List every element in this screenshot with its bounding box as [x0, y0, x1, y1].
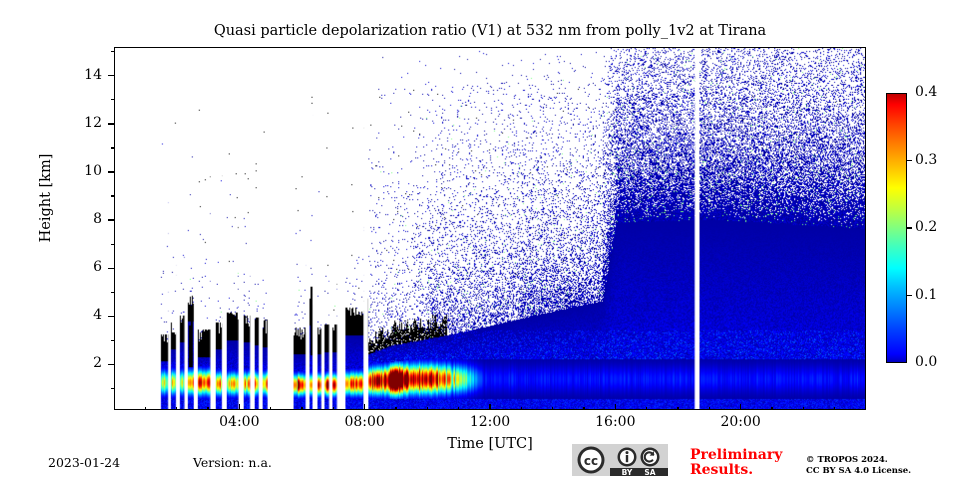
x-tick-minor [301, 407, 302, 411]
colorbar-tick-label: 0.2 [915, 219, 937, 236]
x-tick-minor [395, 407, 396, 411]
colorbar-tick [907, 295, 912, 296]
x-tick-label: 16:00 [575, 414, 655, 431]
chart-title: Quasi particle depolarization ratio (V1)… [114, 22, 866, 40]
preliminary-line-2: Results. [690, 463, 800, 478]
colorbar-tick [907, 160, 912, 161]
y-tick-minor [111, 340, 115, 341]
copyright-line-2: CC BY SA 4.0 License. [806, 466, 956, 477]
colorbar-tick-label: 0.1 [915, 287, 937, 304]
x-tick-minor [176, 407, 177, 411]
x-tick-minor [552, 407, 553, 411]
y-tick-minor [111, 99, 115, 100]
footer-version: Version: n.a. [193, 455, 272, 470]
y-axis-label: Height [km] [38, 138, 54, 258]
y-tick-minor [111, 292, 115, 293]
x-tick-minor [521, 407, 522, 411]
x-tick-minor [709, 407, 710, 411]
footer-date: 2023-01-24 [48, 455, 120, 470]
x-tick-label: 04:00 [199, 414, 279, 431]
x-tick [489, 404, 490, 410]
x-tick [615, 404, 616, 410]
colorbar [886, 93, 907, 363]
x-tick-minor [677, 407, 678, 411]
y-tick [108, 171, 114, 172]
x-tick-minor [427, 407, 428, 411]
preliminary-results-note: Preliminary Results. [690, 448, 800, 478]
y-tick-label: 10 [72, 163, 102, 180]
y-tick-minor [111, 51, 115, 52]
y-tick-label: 12 [72, 115, 102, 132]
x-tick-minor [771, 407, 772, 411]
copyright-line-1: © TROPOS 2024. [806, 455, 956, 466]
y-tick-minor [111, 195, 115, 196]
copyright-note: © TROPOS 2024. CC BY SA 4.0 License. [806, 455, 956, 477]
y-tick [108, 316, 114, 317]
x-tick-minor [803, 407, 804, 411]
x-tick [740, 404, 741, 410]
x-tick-minor [333, 407, 334, 411]
x-tick-minor [207, 407, 208, 411]
y-tick-minor [111, 244, 115, 245]
y-tick-label: 2 [72, 355, 102, 372]
colorbar-tick-label: 0.0 [915, 354, 937, 371]
y-tick-minor [111, 388, 115, 389]
heatmap-canvas [115, 48, 865, 409]
colorbar-tick-label: 0.3 [915, 152, 937, 169]
chart-figure: Quasi particle depolarization ratio (V1)… [0, 0, 960, 480]
x-tick-minor [458, 407, 459, 411]
x-tick [364, 404, 365, 410]
cc-by-sa-badge-icon: cc BY SA [572, 444, 668, 476]
y-tick-label: 14 [72, 67, 102, 84]
x-tick-minor [145, 407, 146, 411]
x-tick [239, 404, 240, 410]
y-tick [108, 123, 114, 124]
x-tick-label: 08:00 [325, 414, 405, 431]
y-tick-label: 4 [72, 307, 102, 324]
x-tick-minor [270, 407, 271, 411]
x-tick-minor [646, 407, 647, 411]
colorbar-tick [907, 227, 912, 228]
y-tick [108, 364, 114, 365]
colorbar-tick-label: 0.4 [915, 84, 937, 101]
x-tick-minor [583, 407, 584, 411]
plot-area [114, 47, 866, 410]
y-tick [108, 268, 114, 269]
colorbar-gradient [886, 93, 907, 363]
y-tick [108, 219, 114, 220]
y-tick-label: 6 [72, 259, 102, 276]
x-tick-label: 20:00 [701, 414, 781, 431]
preliminary-line-1: Preliminary [690, 448, 800, 463]
y-tick-label: 8 [72, 211, 102, 228]
x-tick-minor [834, 407, 835, 411]
svg-text:cc: cc [584, 454, 598, 468]
x-tick-label: 12:00 [450, 414, 530, 431]
svg-text:SA: SA [644, 468, 655, 476]
svg-text:BY: BY [622, 468, 633, 476]
y-tick-minor [111, 147, 115, 148]
y-tick [108, 75, 114, 76]
